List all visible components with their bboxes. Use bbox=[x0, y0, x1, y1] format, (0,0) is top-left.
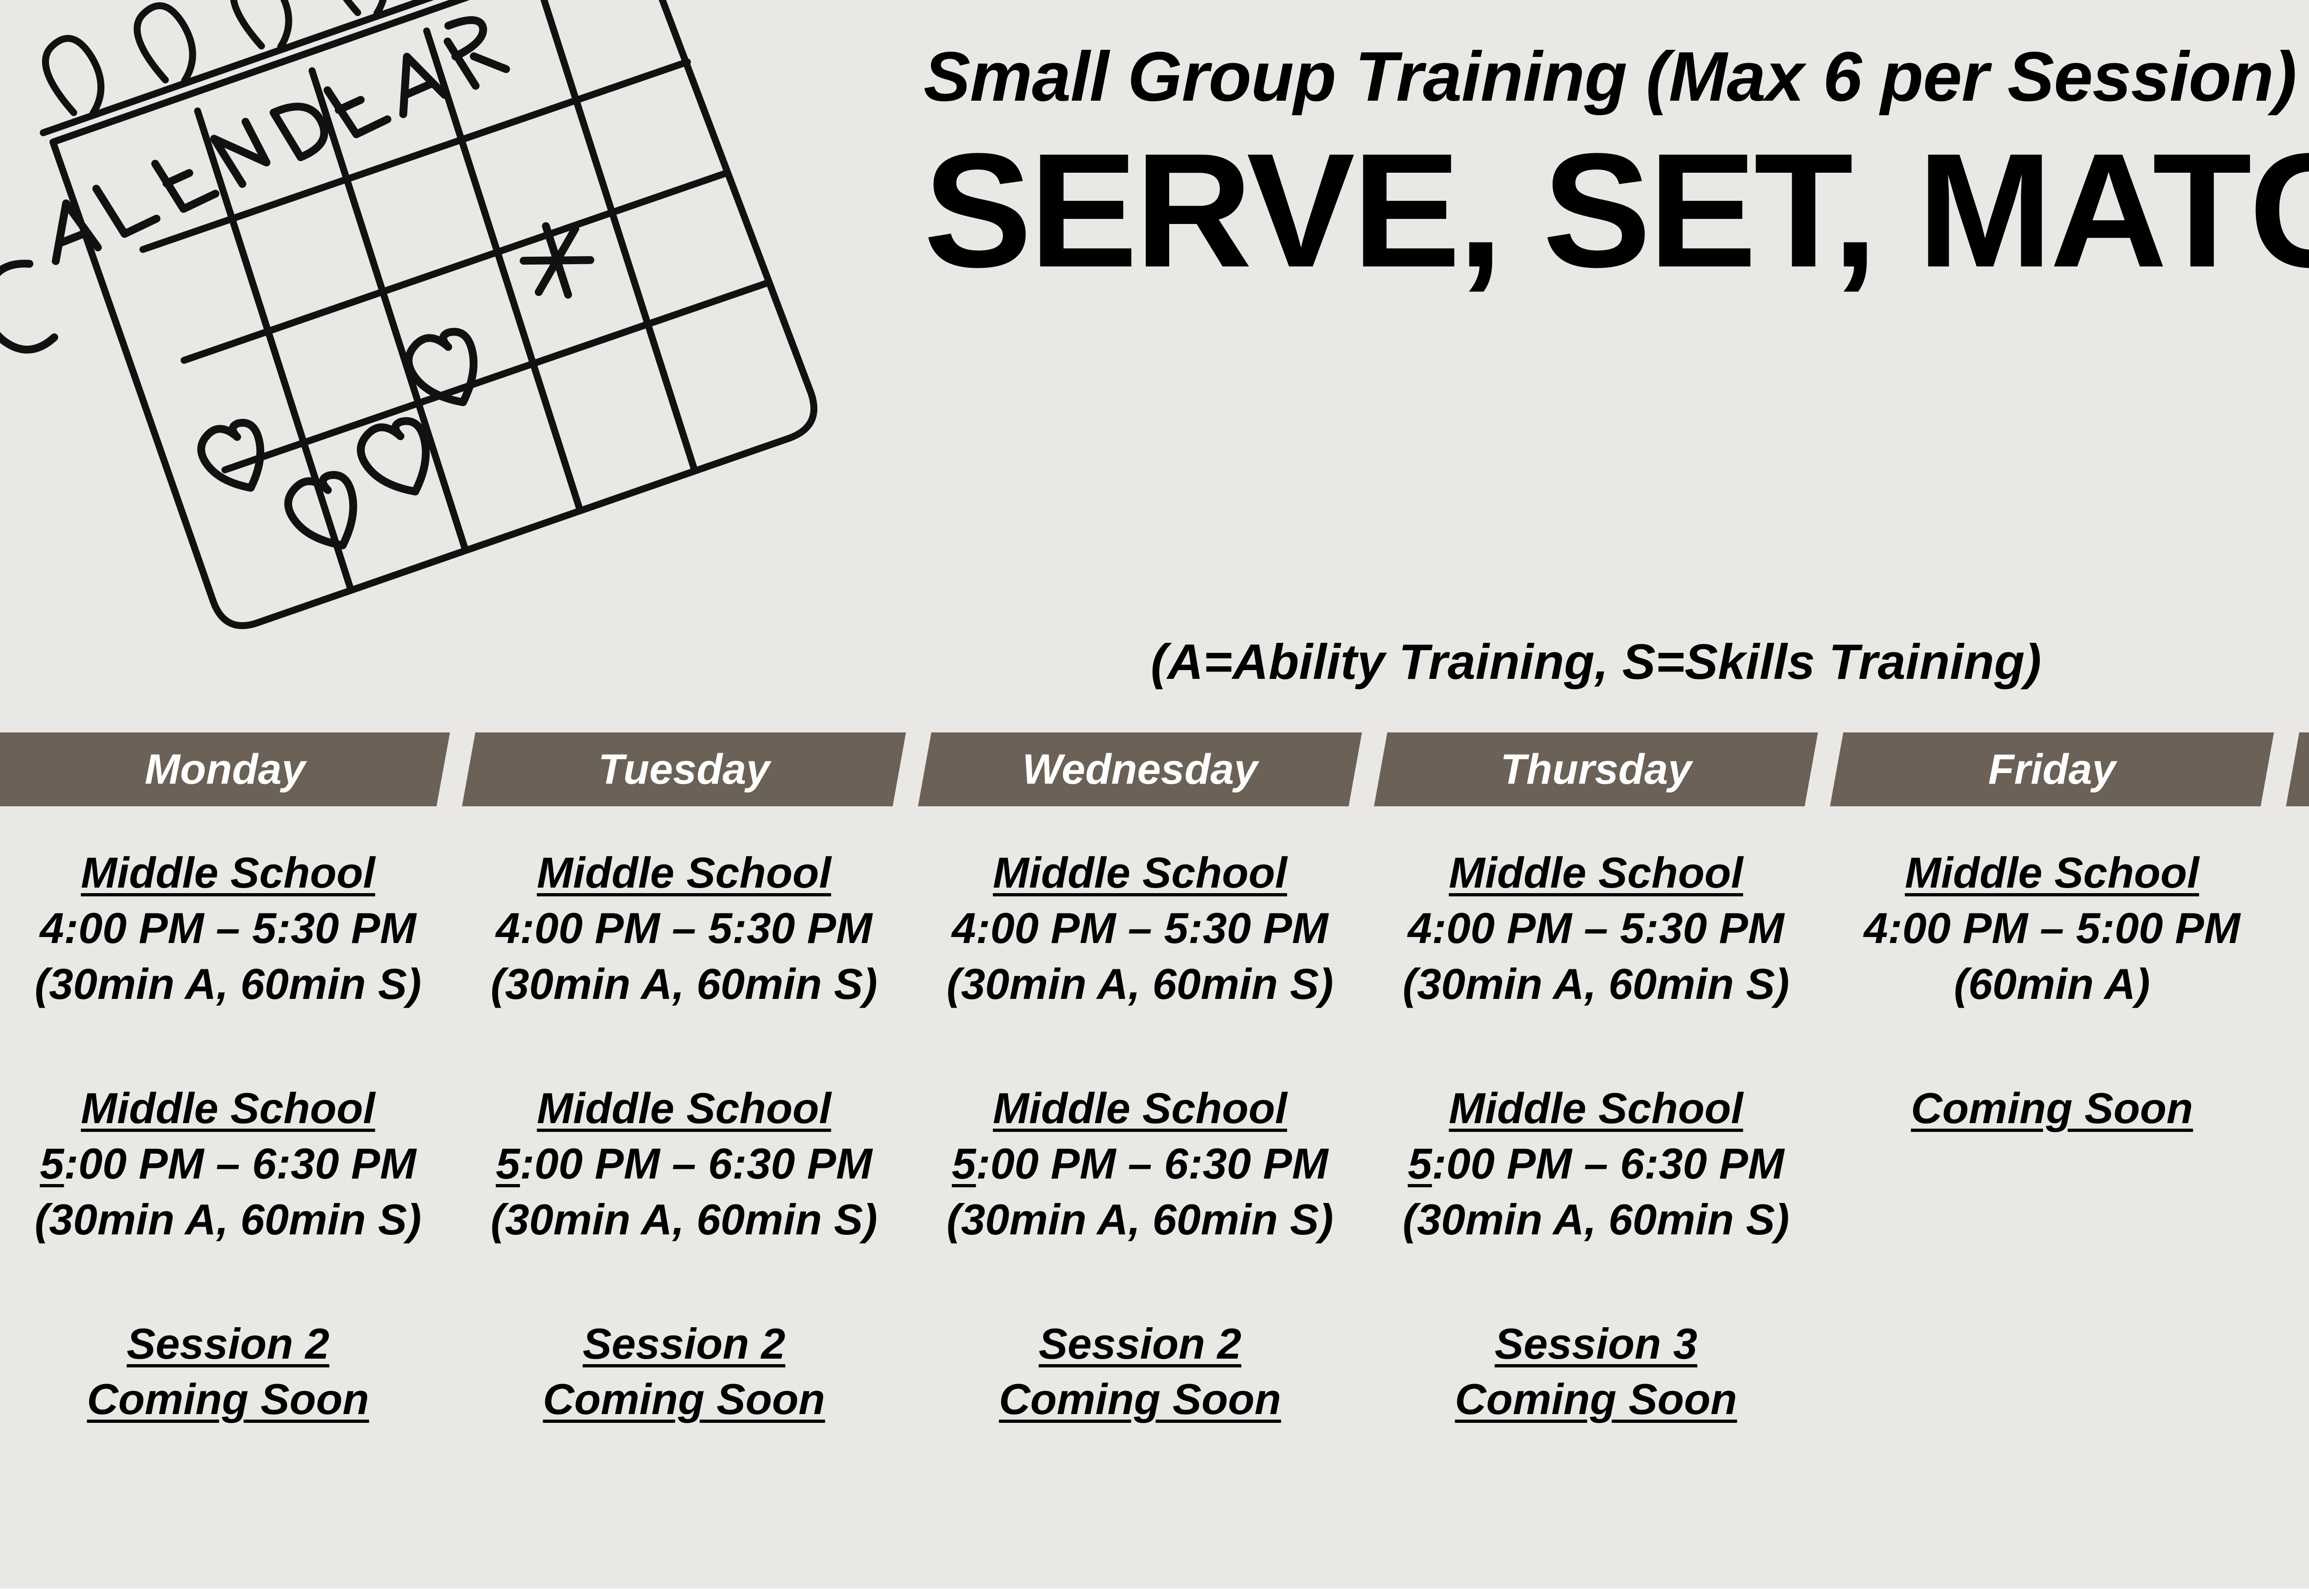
session-line: Middle School bbox=[0, 845, 456, 901]
session-line-rest: :00 PM – 6:30 PM bbox=[520, 1139, 872, 1188]
day-header-saturday: Saturday bbox=[2286, 732, 2309, 806]
session-line: (30min A, 60min S) bbox=[0, 1192, 456, 1247]
schedule-column-wednesday: Middle School4:00 PM – 5:30 PM(30min A, … bbox=[912, 845, 1368, 1552]
session-slot[interactable]: Session 2Coming Soon bbox=[456, 1316, 912, 1552]
session-line: Middle School bbox=[1824, 845, 2280, 901]
session-line: Session 2 bbox=[456, 1316, 912, 1372]
session-line: Coming Soon bbox=[2280, 845, 2309, 901]
schedule-column-monday: Middle School4:00 PM – 5:30 PM(30min A, … bbox=[0, 845, 456, 1552]
schedule-column-friday: Middle School4:00 PM – 5:00 PM(60min A)C… bbox=[1824, 845, 2280, 1552]
day-header-friday: Friday bbox=[1830, 732, 2274, 806]
session-line: (30min A, 60min S) bbox=[0, 956, 456, 1012]
session-line: Middle School bbox=[456, 1081, 912, 1136]
session-line: Middle School bbox=[912, 845, 1368, 901]
schedule-column-tuesday: Middle School4:00 PM – 5:30 PM(30min A, … bbox=[456, 845, 912, 1552]
session-slot[interactable]: Session 3Coming Soon bbox=[1368, 1316, 1824, 1552]
session-slot[interactable]: Middle School5:00 PM – 6:30 PM(30min A, … bbox=[0, 1081, 456, 1316]
day-header-wednesday: Wednesday bbox=[918, 732, 1362, 806]
session-line-underlined-char: 5 bbox=[496, 1139, 520, 1188]
session-line: 4:00 PM – 5:00 PM bbox=[1824, 901, 2280, 956]
session-line: Session 2 bbox=[0, 1316, 456, 1372]
session-line: Middle School bbox=[1368, 1081, 1824, 1136]
day-header-tuesday: Tuesday bbox=[462, 732, 906, 806]
session-slot[interactable]: Session 2Coming Soon bbox=[912, 1316, 1368, 1552]
session-line: Middle School bbox=[456, 845, 912, 901]
poster-header: Small Group Training (Max 6 per Session)… bbox=[924, 42, 2309, 293]
day-header-label: Tuesday bbox=[598, 745, 770, 794]
day-header-monday: Monday bbox=[0, 732, 450, 806]
session-line: (30min A, 60min S) bbox=[456, 1192, 912, 1247]
schedule-poster: Small Group Training (Max 6 per Session)… bbox=[0, 0, 2309, 1596]
session-line: Coming Soon bbox=[1368, 1372, 1824, 1427]
session-slot[interactable]: Coming Soon bbox=[2280, 845, 2309, 1081]
session-line: Coming Soon bbox=[1824, 1081, 2280, 1136]
day-header-thursday: Thursday bbox=[1374, 732, 1818, 806]
session-slot[interactable]: Middle School4:00 PM – 5:30 PM(30min A, … bbox=[1368, 845, 1824, 1081]
session-line: (30min A, 60min S) bbox=[912, 956, 1368, 1012]
day-header-bar: MondayTuesdayWednesdayThursdayFridaySatu… bbox=[0, 732, 2309, 806]
session-line: 4:00 PM – 5:30 PM bbox=[456, 901, 912, 956]
session-slot[interactable]: Middle School4:00 PM – 5:30 PM(30min A, … bbox=[0, 845, 456, 1081]
session-line: (60min A) bbox=[1824, 956, 2280, 1012]
session-line-underlined-char: 5 bbox=[1408, 1139, 1432, 1188]
session-line: 4:00 PM – 5:30 PM bbox=[1368, 901, 1824, 956]
session-line: Middle School bbox=[912, 1081, 1368, 1136]
day-header-label: Thursday bbox=[1500, 745, 1692, 794]
session-slot[interactable]: Middle School5:00 PM – 6:30 PM(30min A, … bbox=[1368, 1081, 1824, 1316]
session-line: Middle School bbox=[0, 1081, 456, 1136]
weekly-schedule-grid: Middle School4:00 PM – 5:30 PM(30min A, … bbox=[0, 845, 2309, 1552]
session-line: 5:00 PM – 6:30 PM bbox=[912, 1136, 1368, 1191]
day-header-label: Friday bbox=[1988, 745, 2116, 794]
session-line: Coming Soon bbox=[2280, 1081, 2309, 1136]
session-line: (30min A, 60min S) bbox=[456, 956, 912, 1012]
session-slot[interactable]: Coming Soon bbox=[2280, 1081, 2309, 1316]
session-slot[interactable]: Session 2Coming Soon bbox=[0, 1316, 456, 1552]
schedule-column-saturday: Coming SoonComing Soon bbox=[2280, 845, 2309, 1552]
session-slot[interactable]: Middle School4:00 PM – 5:30 PM(30min A, … bbox=[456, 845, 912, 1081]
session-line: Coming Soon bbox=[912, 1372, 1368, 1427]
poster-subtitle: Small Group Training (Max 6 per Session) bbox=[924, 42, 2309, 112]
session-line: 4:00 PM – 5:30 PM bbox=[0, 901, 456, 956]
hand-drawn-calendar-icon bbox=[0, 0, 850, 688]
session-slot[interactable]: Coming Soon bbox=[1824, 1081, 2280, 1316]
session-line: 5:00 PM – 6:30 PM bbox=[1368, 1136, 1824, 1191]
session-slot[interactable]: Middle School5:00 PM – 6:30 PM(30min A, … bbox=[912, 1081, 1368, 1316]
session-line-rest: :00 PM – 6:30 PM bbox=[64, 1139, 416, 1188]
session-line: (30min A, 60min S) bbox=[912, 1192, 1368, 1247]
session-line: Coming Soon bbox=[456, 1372, 912, 1427]
session-line-underlined-char: 5 bbox=[40, 1139, 64, 1188]
session-line: 4:00 PM – 5:30 PM bbox=[912, 901, 1368, 956]
session-line: Middle School bbox=[1368, 845, 1824, 901]
day-header-label: Monday bbox=[145, 745, 305, 794]
session-line: (30min A, 60min S) bbox=[1368, 1192, 1824, 1247]
session-line: 5:00 PM – 6:30 PM bbox=[456, 1136, 912, 1191]
session-slot[interactable] bbox=[2280, 1316, 2309, 1552]
session-line-underlined-char: 5 bbox=[952, 1139, 976, 1188]
training-legend: (A=Ability Training, S=Skills Training) bbox=[0, 633, 2309, 690]
session-slot[interactable] bbox=[1824, 1316, 2280, 1552]
session-line: (30min A, 60min S) bbox=[1368, 956, 1824, 1012]
session-line: Session 3 bbox=[1368, 1316, 1824, 1372]
session-line-rest: :00 PM – 6:30 PM bbox=[1432, 1139, 1784, 1188]
session-slot[interactable]: Middle School4:00 PM – 5:00 PM(60min A) bbox=[1824, 845, 2280, 1081]
day-header-label: Wednesday bbox=[1022, 745, 1258, 794]
session-line: Coming Soon bbox=[0, 1372, 456, 1427]
page-title: SERVE, SET, MATCH bbox=[924, 127, 2309, 293]
bottom-edge-strip bbox=[0, 1589, 2309, 1596]
session-line-rest: :00 PM – 6:30 PM bbox=[976, 1139, 1328, 1188]
session-slot[interactable]: Middle School4:00 PM – 5:30 PM(30min A, … bbox=[912, 845, 1368, 1081]
session-slot[interactable]: Middle School5:00 PM – 6:30 PM(30min A, … bbox=[456, 1081, 912, 1316]
session-line: Session 2 bbox=[912, 1316, 1368, 1372]
schedule-column-thursday: Middle School4:00 PM – 5:30 PM(30min A, … bbox=[1368, 845, 1824, 1552]
session-line: 5:00 PM – 6:30 PM bbox=[0, 1136, 456, 1191]
